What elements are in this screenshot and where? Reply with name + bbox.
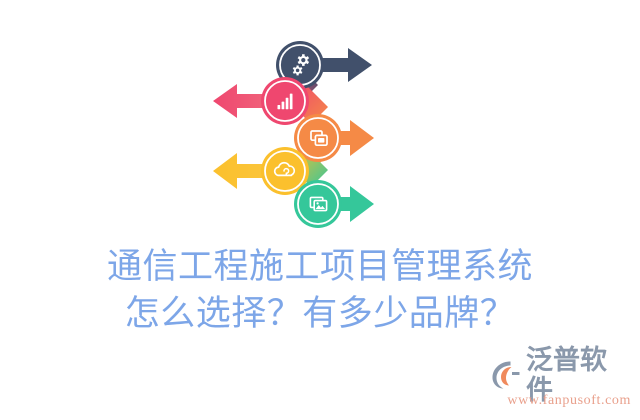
page-title-line-1: 通信工程施工项目管理系统 [0, 243, 640, 290]
page-title-line-2: 怎么选择？有多少品牌？ [0, 290, 640, 337]
process-infographic [200, 38, 400, 238]
brand-row: 泛普软件 [490, 358, 632, 392]
fanpu-logo-icon [490, 359, 524, 391]
brand-url: www.fanpusoft.com [490, 393, 632, 409]
node-gallery [294, 180, 374, 228]
page-title: 通信工程施工项目管理系统 怎么选择？有多少品牌？ [0, 243, 640, 337]
node-cloud [213, 147, 309, 195]
node-windows [294, 114, 374, 162]
node-chart [213, 77, 309, 125]
brand-watermark: 泛普软件 www.fanpusoft.com [490, 358, 632, 412]
image-canvas: 通信工程施工项目管理系统 怎么选择？有多少品牌？ 泛普软件 www.fanpus… [0, 0, 640, 420]
